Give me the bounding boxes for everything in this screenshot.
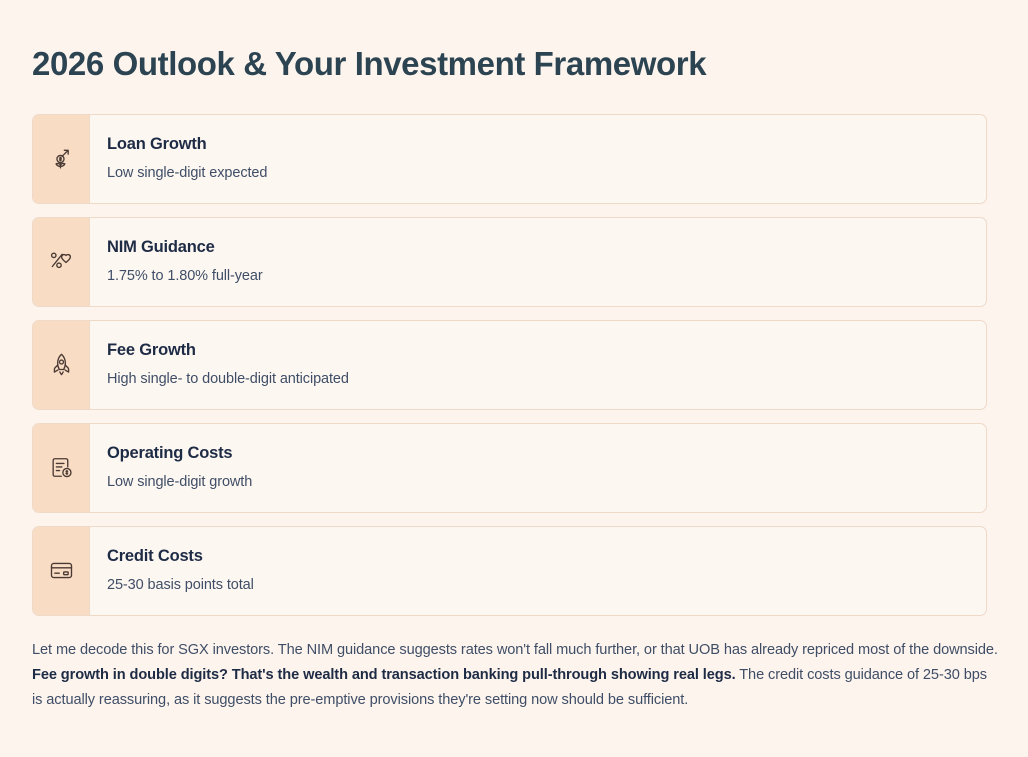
rocket-icon xyxy=(49,352,74,377)
card-title: Loan Growth xyxy=(107,134,986,155)
card-body: Operating Costs Low single-digit growth xyxy=(90,424,986,512)
card-title: Fee Growth xyxy=(107,340,986,361)
card-title: Credit Costs xyxy=(107,546,986,567)
invoice-dollar-icon xyxy=(49,455,74,480)
card-title: NIM Guidance xyxy=(107,237,986,258)
card-subtitle: Low single-digit growth xyxy=(107,473,986,492)
outlook-framework-page: 2026 Outlook & Your Investment Framework xyxy=(0,0,1028,757)
framework-card-loan-growth[interactable]: Loan Growth Low single-digit expected xyxy=(32,114,987,204)
card-body: Credit Costs 25-30 basis points total xyxy=(90,527,986,615)
framework-card-nim-guidance[interactable]: NIM Guidance 1.75% to 1.80% full-year xyxy=(32,217,987,307)
percent-heart-icon xyxy=(49,249,74,274)
page-title: 2026 Outlook & Your Investment Framework xyxy=(32,0,996,84)
summary-paragraph: Let me decode this for SGX investors. Th… xyxy=(32,638,1000,713)
summary-emphasis: Fee growth in double digits? That's the … xyxy=(32,667,736,683)
credit-card-icon xyxy=(49,558,74,583)
card-subtitle: 25-30 basis points total xyxy=(107,576,986,595)
card-title: Operating Costs xyxy=(107,443,986,464)
framework-card-fee-growth[interactable]: Fee Growth High single- to double-digit … xyxy=(32,320,987,410)
card-icon-strip xyxy=(33,115,90,203)
card-icon-strip xyxy=(33,527,90,615)
money-plant-growth-icon xyxy=(49,146,74,171)
card-body: NIM Guidance 1.75% to 1.80% full-year xyxy=(90,218,986,306)
card-icon-strip xyxy=(33,321,90,409)
card-icon-strip xyxy=(33,218,90,306)
card-icon-strip xyxy=(33,424,90,512)
framework-card-credit-costs[interactable]: Credit Costs 25-30 basis points total xyxy=(32,526,987,616)
card-body: Loan Growth Low single-digit expected xyxy=(90,115,986,203)
framework-card-operating-costs[interactable]: Operating Costs Low single-digit growth xyxy=(32,423,987,513)
summary-text-part-1: Let me decode this for SGX investors. Th… xyxy=(32,642,998,658)
card-body: Fee Growth High single- to double-digit … xyxy=(90,321,986,409)
framework-card-list: Loan Growth Low single-digit expected NI… xyxy=(32,114,996,616)
card-subtitle: 1.75% to 1.80% full-year xyxy=(107,267,986,286)
card-subtitle: High single- to double-digit anticipated xyxy=(107,370,986,389)
card-subtitle: Low single-digit expected xyxy=(107,164,986,183)
